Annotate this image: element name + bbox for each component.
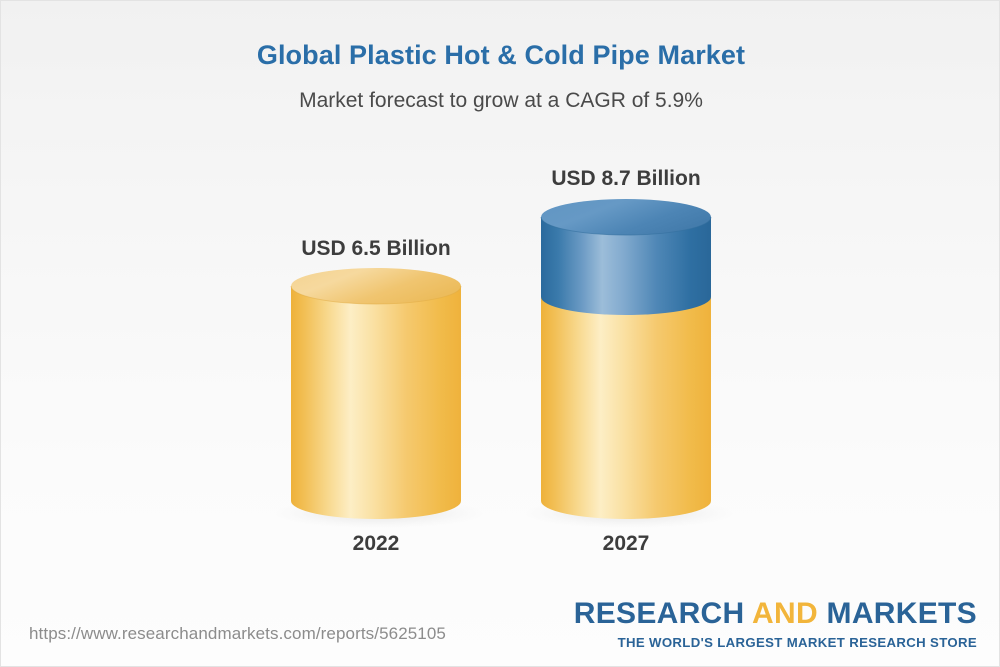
source-url[interactable]: https://www.researchandmarkets.com/repor…	[29, 624, 446, 644]
brand-wordmark-and: AND	[752, 597, 818, 630]
cylinder-bars-graphic	[1, 1, 1000, 667]
bar-category-label-2027: 2027	[516, 532, 736, 556]
market-forecast-infographic: Global Plastic Hot & Cold Pipe Market Ma…	[0, 0, 1000, 667]
chart-plot-area: USD 6.5 Billion 2022 USD 8.7 Billion 202…	[1, 1, 1000, 667]
cylinder-bar-2027	[541, 199, 711, 519]
brand-wordmark-markets: MARKETS	[818, 597, 977, 630]
brand-wordmark: RESEARCH AND MARKETS	[574, 599, 977, 629]
bar-value-label-2027: USD 8.7 Billion	[516, 167, 736, 191]
cylinder-bar-2022	[291, 268, 461, 519]
brand-wordmark-research: RESEARCH	[574, 597, 752, 630]
bar-value-label-2022: USD 6.5 Billion	[266, 237, 486, 261]
brand-tagline: THE WORLD'S LARGEST MARKET RESEARCH STOR…	[574, 636, 977, 649]
brand-logo: RESEARCH AND MARKETS THE WORLD'S LARGEST…	[574, 599, 977, 649]
bar-category-label-2022: 2022	[266, 532, 486, 556]
